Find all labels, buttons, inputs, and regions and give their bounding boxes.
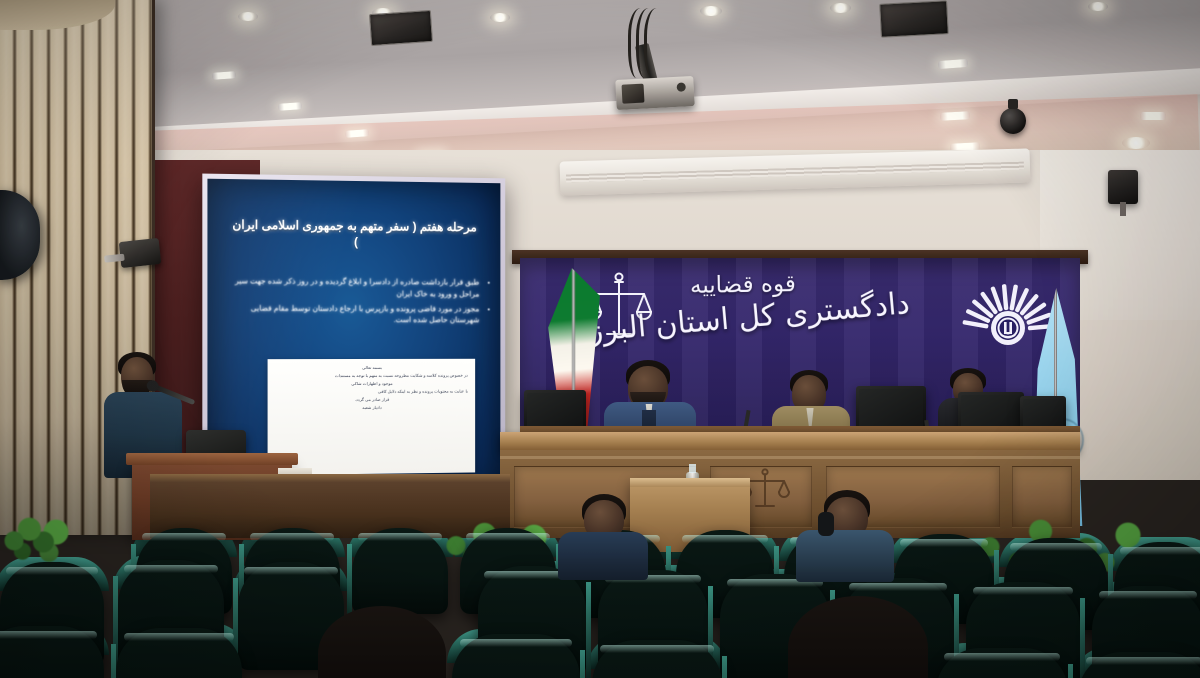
seat-highlight bbox=[849, 583, 948, 591]
seat-highlight bbox=[900, 539, 988, 547]
ceiling-downlight bbox=[490, 13, 510, 22]
attendee-front-left bbox=[560, 498, 646, 570]
torso bbox=[558, 532, 648, 580]
seat-highlight bbox=[1086, 657, 1200, 665]
seat-highlight bbox=[142, 533, 227, 541]
seat bbox=[936, 648, 1068, 678]
video-camera-icon bbox=[119, 238, 161, 268]
seat-highlight bbox=[682, 535, 768, 543]
hair bbox=[318, 606, 446, 678]
projector-knob-icon bbox=[676, 82, 685, 91]
seat-highlight bbox=[466, 533, 551, 541]
attendee-foreground-left bbox=[318, 606, 446, 678]
ceiling-downlight bbox=[830, 3, 851, 13]
seat-highlight bbox=[124, 565, 217, 573]
slide-inline-document: بسمه تعالی در خصوص پرونده کلاسه و شکایت … bbox=[267, 359, 474, 475]
seat bbox=[592, 640, 722, 678]
stage-plants bbox=[0, 506, 70, 564]
slat-wall-cap bbox=[0, 0, 115, 30]
ceiling-vent bbox=[879, 0, 949, 38]
wall-speaker-icon bbox=[1108, 170, 1138, 204]
seat-highlight bbox=[0, 631, 97, 639]
seat-highlight bbox=[244, 567, 337, 575]
ceiling-striplight bbox=[1140, 112, 1166, 120]
ceiling-projector-icon bbox=[615, 76, 694, 110]
seat-highlight bbox=[358, 533, 443, 541]
attendee-front-right bbox=[800, 496, 892, 570]
stage-edge-left bbox=[150, 474, 510, 482]
seat-highlight bbox=[1099, 591, 1198, 599]
security-camera-icon bbox=[1000, 108, 1026, 134]
seat-highlight bbox=[460, 639, 573, 647]
slide-bullet: مجوز در مورد قاضی پرونده و بازپرس با ارج… bbox=[219, 302, 479, 326]
slide-bullet: طبق قرار بازداشت صادره از دادسرا و ابلاغ… bbox=[219, 276, 479, 301]
seat-highlight bbox=[973, 587, 1073, 595]
courtroom-scene: مرحله هفتم ( سفر متهم به جمهوری اسلامی ا… bbox=[0, 0, 1200, 678]
seat-highlight bbox=[1120, 547, 1200, 555]
projector-cable bbox=[644, 8, 665, 78]
iran-judiciary-sunburst-icon bbox=[962, 276, 1054, 368]
seat bbox=[352, 528, 448, 614]
seat-highlight bbox=[944, 653, 1060, 661]
doc-line: دادیار شعبه bbox=[274, 403, 467, 412]
banner-title: قوه قضاییه bbox=[690, 271, 796, 299]
ceiling-striplight bbox=[940, 111, 970, 121]
seat bbox=[0, 626, 104, 678]
seat bbox=[116, 628, 242, 678]
seat-highlight bbox=[6, 567, 98, 575]
seat bbox=[452, 634, 580, 678]
slide-bullet-list: طبق قرار بازداشت صادره از دادسرا و ابلاغ… bbox=[219, 276, 489, 329]
seat-highlight bbox=[600, 645, 714, 653]
ceiling-downlight bbox=[700, 6, 722, 16]
ceiling-downlight bbox=[1088, 2, 1108, 11]
slide-title: مرحله هفتم ( سفر متهم به جمهوری اسلامی ا… bbox=[231, 218, 477, 252]
phone-icon bbox=[818, 512, 834, 536]
torso bbox=[796, 530, 894, 582]
ceiling-downlight bbox=[1122, 137, 1150, 149]
seat-highlight bbox=[1010, 543, 1102, 551]
ceiling-downlight bbox=[238, 12, 258, 21]
hair bbox=[788, 596, 928, 678]
ceiling-vent bbox=[369, 10, 433, 46]
seat-highlight bbox=[250, 533, 335, 541]
bench-desktop bbox=[500, 432, 1080, 452]
seat-highlight bbox=[124, 633, 235, 641]
projector-lens-icon bbox=[622, 84, 645, 104]
attendee-foreground-right bbox=[788, 596, 928, 678]
